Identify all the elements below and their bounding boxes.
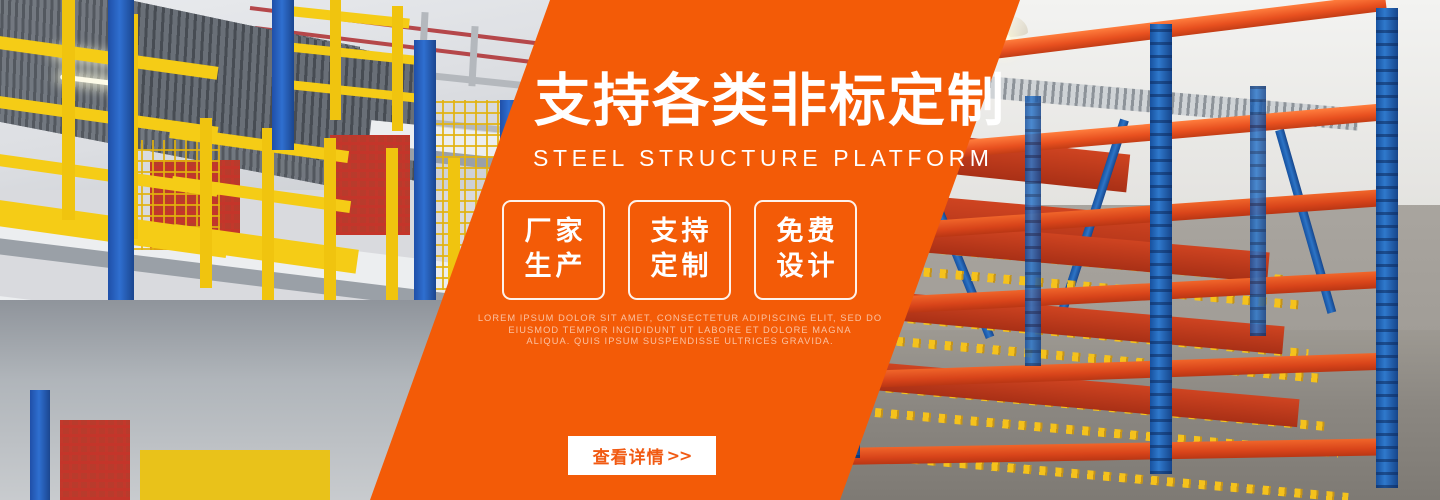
badge-line-1: 厂家 [521,215,587,250]
banner-content: 支持各类非标定制 STEEL STRUCTURE PLATFORM 厂家 生产 … [0,0,1440,500]
badge-line-2: 定制 [647,250,713,285]
badge-custom-support[interactable]: 支持 定制 [628,200,731,300]
promo-banner: 支持各类非标定制 STEEL STRUCTURE PLATFORM 厂家 生产 … [0,0,1440,500]
badge-line-2: 生产 [521,250,587,285]
feature-badges: 厂家 生产 支持 定制 免费 设计 [502,200,857,300]
badge-manufacturer[interactable]: 厂家 生产 [502,200,605,300]
description-line-3: ALIQUA. QUIS IPSUM SUSPENDISSE ULTRICES … [400,336,960,348]
badge-line-1: 支持 [647,215,713,250]
badge-line-2: 设计 [773,250,839,285]
cta-label: 查看详情 [593,443,665,468]
subheadline: STEEL STRUCTURE PLATFORM [533,145,994,172]
description-line-1: LOREM IPSUM DOLOR SIT AMET, CONSECTETUR … [400,313,960,325]
view-details-button[interactable]: 查看详情 >> [568,436,716,475]
badge-free-design[interactable]: 免费 设计 [754,200,857,300]
description-text: LOREM IPSUM DOLOR SIT AMET, CONSECTETUR … [400,313,960,348]
badge-line-1: 免费 [773,215,839,250]
chevron-right-icon: >> [667,446,692,465]
headline: 支持各类非标定制 [534,73,1006,130]
description-line-2: EIUSMOD TEMPOR INCIDIDUNT UT LABORE ET D… [400,325,960,337]
